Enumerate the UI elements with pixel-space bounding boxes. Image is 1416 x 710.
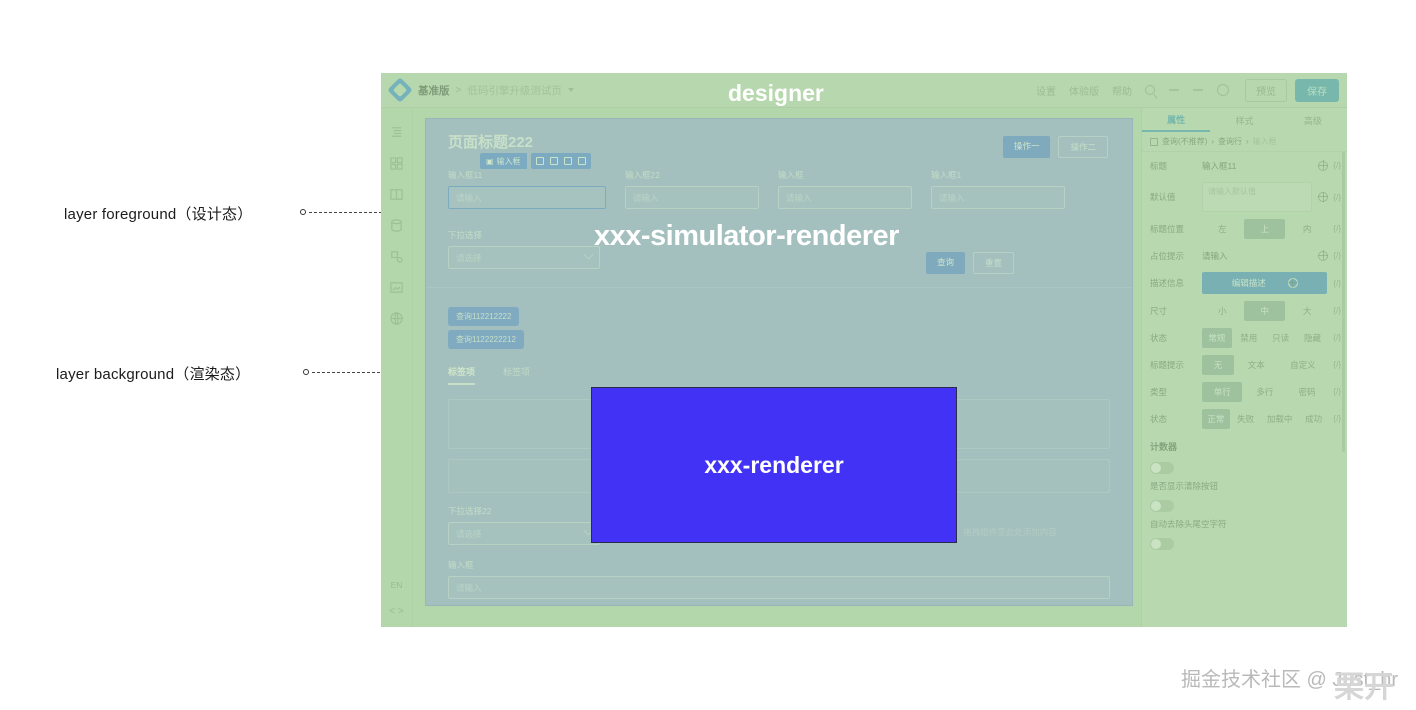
field-label: 输入框 <box>448 559 1110 571</box>
i18n-globe-icon[interactable] <box>1318 161 1328 171</box>
segment-option[interactable]: 加载中 <box>1261 409 1297 429</box>
trim-toggle[interactable] <box>1150 538 1174 550</box>
tag-item[interactable]: 查询1122222212 <box>448 330 524 349</box>
page-title: 页面标题222 <box>448 131 533 152</box>
chevron-down-icon <box>584 250 594 260</box>
segment-option[interactable]: 小 <box>1202 301 1242 321</box>
header-action-buttons: 操作一 操作二 <box>1003 136 1108 158</box>
status-segmented: 正常 失败 加载中 成功 <box>1202 409 1327 429</box>
property-control: 单行 多行 密码 <box>1202 382 1327 402</box>
property-row-end: {/} <box>1333 279 1341 288</box>
field-input-1[interactable]: 输入框1 请输入 <box>931 169 1065 209</box>
property-label: 状态 <box>1150 413 1196 425</box>
section-divider <box>426 287 1132 288</box>
i18n-globe-icon[interactable] <box>1288 278 1298 288</box>
title-tip-segmented: 无 文本 自定义 <box>1202 355 1327 375</box>
property-label: 标题提示 <box>1150 359 1196 371</box>
property-breadcrumb-item-0[interactable]: 查询(不推荐) <box>1162 136 1207 147</box>
lock-icon[interactable] <box>564 157 572 165</box>
breadcrumb-item-1[interactable]: 低码引擎升级测试页 <box>467 83 562 98</box>
topbar-menu: 设置 体验版 帮助 <box>1036 83 1155 98</box>
property-row-end: {/} <box>1333 360 1341 369</box>
property-section-clear-button: 是否显示清除按钮 <box>1142 477 1347 495</box>
diamond-logo-icon[interactable] <box>387 77 412 102</box>
size-segmented: 小 中 大 <box>1202 301 1327 321</box>
property-row-end: {/} <box>1318 251 1341 261</box>
segment-option-selected[interactable]: 单行 <box>1202 382 1242 402</box>
expression-icon[interactable]: {/} <box>1333 414 1341 423</box>
select-placeholder: 请选择 <box>456 528 482 540</box>
segment-option[interactable]: 成功 <box>1300 409 1328 429</box>
property-label: 尺寸 <box>1150 305 1196 317</box>
history-icon[interactable] <box>1217 84 1229 96</box>
search-form-footer-buttons: 查询 重置 <box>926 252 1014 274</box>
redo-icon[interactable] <box>1193 89 1203 91</box>
breadcrumb-separator-icon: › <box>1246 137 1249 146</box>
tab-styles[interactable]: 样式 <box>1210 108 1278 132</box>
query-button[interactable]: 查询 <box>926 252 965 274</box>
expression-icon[interactable]: {/} <box>1333 161 1341 170</box>
title-position-segmented: 左 上 内 <box>1202 219 1327 239</box>
copy-icon[interactable] <box>536 157 544 165</box>
outline-tree-icon[interactable] <box>389 125 404 140</box>
tag-list: 查询112212222 查询1122222212 <box>448 307 524 353</box>
property-section-counter: 计数器 <box>1142 432 1347 457</box>
input-placeholder: 请输入 <box>633 192 659 204</box>
annotation-layer-background: layer background（渲染态） <box>56 363 250 384</box>
reset-button[interactable]: 重置 <box>973 252 1014 274</box>
property-label: 标题位置 <box>1150 223 1196 235</box>
topbar-menu-settings[interactable]: 设置 <box>1036 83 1056 98</box>
property-label: 占位提示 <box>1150 250 1196 262</box>
property-tabs: 属性 样式 高级 <box>1142 108 1347 132</box>
topbar-button-group: 预览 保存 <box>1245 79 1339 102</box>
property-panel-scrollbar[interactable] <box>1342 152 1345 452</box>
tab-properties[interactable]: 属性 <box>1142 108 1210 132</box>
expression-icon[interactable]: {/} <box>1333 251 1341 260</box>
preview-button[interactable]: 预览 <box>1245 79 1287 102</box>
content-tabs: 标签项 标签项 <box>448 365 530 385</box>
segment-option[interactable]: 左 <box>1202 219 1242 239</box>
property-panel: 属性 样式 高级 查询(不推荐) › 查询行 › 输入框 标题 输入框11 <box>1141 108 1347 627</box>
property-label: 类型 <box>1150 386 1196 398</box>
input-placeholder: 请输入 <box>786 192 812 204</box>
segment-option[interactable]: 内 <box>1287 219 1327 239</box>
segment-option[interactable]: 多行 <box>1244 382 1284 402</box>
title-input[interactable]: 输入框11 <box>1202 158 1312 174</box>
property-breadcrumb-item-2[interactable]: 输入框 <box>1253 136 1277 147</box>
action-one-button[interactable]: 操作一 <box>1003 136 1051 158</box>
segment-option[interactable]: 密码 <box>1287 382 1327 402</box>
segment-option[interactable]: 大 <box>1287 301 1327 321</box>
move-icon[interactable] <box>550 157 558 165</box>
tag-item[interactable]: 查询112212222 <box>448 307 519 326</box>
globe-icon[interactable] <box>389 311 404 326</box>
select-dropdown-22[interactable]: 请选择 <box>448 522 600 545</box>
tab-item-0[interactable]: 标签项 <box>448 365 475 385</box>
annotation-layer-foreground: layer foreground（设计态） <box>64 203 252 224</box>
topbar-menu-experience[interactable]: 体验版 <box>1069 83 1099 98</box>
assets-image-icon[interactable] <box>389 280 404 295</box>
undo-icon[interactable] <box>1169 89 1179 91</box>
segment-option-selected[interactable]: 常规 <box>1202 328 1232 348</box>
property-row-title: 标题 输入框11 {/} <box>1142 152 1347 179</box>
expression-icon[interactable]: {/} <box>1333 387 1341 396</box>
expression-icon[interactable]: {/} <box>1333 193 1341 202</box>
property-control: 无 文本 自定义 <box>1202 355 1327 375</box>
property-row-default-value: 默认值 请输入默认值 {/} <box>1142 179 1347 215</box>
input-placeholder: 请输入 <box>456 192 482 204</box>
selection-tools <box>531 153 591 169</box>
segment-option[interactable]: 隐藏 <box>1298 328 1328 348</box>
selection-toolbar[interactable]: ▣ 输入框 <box>480 153 591 169</box>
property-control: 小 中 大 <box>1202 301 1327 321</box>
bottom-input[interactable]: 请输入 <box>448 576 1110 599</box>
layout-blocks-icon[interactable] <box>389 187 404 202</box>
property-row-title-position: 标题位置 左 上 内 {/} <box>1142 215 1347 242</box>
leader-dot-background <box>303 369 309 375</box>
tab-item-1[interactable]: 标签项 <box>503 365 530 385</box>
property-row-status: 状态 正常 失败 加载中 成功 {/} <box>1142 405 1347 432</box>
edit-icon: ▣ <box>486 157 494 166</box>
edit-description-label: 编辑描述 <box>1232 277 1266 289</box>
property-label: 状态 <box>1150 332 1196 344</box>
field-input-3[interactable]: 输入框 请输入 <box>778 169 912 209</box>
property-row-placeholder: 占位提示 请输入 {/} <box>1142 242 1347 269</box>
action-two-button[interactable]: 操作二 <box>1058 136 1108 158</box>
designer-overlay-title: designer <box>728 80 824 107</box>
simulator-renderer-label: xxx-simulator-renderer <box>594 220 899 253</box>
breadcrumb-item-0[interactable]: 基准版 <box>418 83 450 98</box>
field-input-bottom[interactable]: 输入框 请输入 <box>448 559 1110 599</box>
search-form-row-1: 输入框11 请输入 输入框22 请输入 <box>448 169 1065 209</box>
component-icon <box>1150 138 1158 146</box>
property-label: 描述信息 <box>1150 277 1196 289</box>
property-section-trim: 自动去除头尾空字符 <box>1142 515 1347 533</box>
designer-window: 基准版 > 低码引擎升级测试页 设置 体验版 帮助 预览 保存 <box>381 73 1347 627</box>
field-label: 下拉选择22 <box>448 505 600 517</box>
default-value-textarea[interactable]: 请输入默认值 <box>1202 182 1312 212</box>
property-control: 请输入 <box>1202 248 1312 264</box>
watermark-stamp: 栗开 <box>1334 662 1394 706</box>
property-row-end: {/} <box>1318 161 1341 171</box>
renderer-label: xxx-renderer <box>704 452 843 479</box>
search-input-1[interactable]: 请输入 <box>931 186 1065 209</box>
delete-icon[interactable] <box>578 157 586 165</box>
field-input-11[interactable]: 输入框11 请输入 <box>448 169 606 209</box>
expression-icon[interactable]: {/} <box>1333 306 1341 315</box>
datasource-icon[interactable] <box>389 218 404 233</box>
save-button[interactable]: 保存 <box>1295 79 1339 102</box>
field-label: 输入框22 <box>625 169 759 181</box>
property-row-end: {/} <box>1333 224 1341 233</box>
search-form-row-2: 下拉选择 请选择 <box>448 229 600 269</box>
property-row-state: 状态 常规 禁用 只读 隐藏 {/} <box>1142 324 1347 351</box>
leader-dot-foreground <box>300 209 306 215</box>
left-rail: EN < > <box>381 108 413 627</box>
input-placeholder: 请输入 <box>456 582 482 594</box>
select-placeholder: 请选择 <box>456 252 482 264</box>
field-label: 输入框11 <box>448 169 606 181</box>
property-row-end: {/} <box>1318 192 1341 202</box>
search-icon[interactable] <box>1145 85 1155 95</box>
property-row-end: {/} <box>1333 306 1341 315</box>
counter-toggle[interactable] <box>1150 462 1174 474</box>
property-control: 请输入默认值 <box>1202 182 1312 212</box>
field-select-22[interactable]: 下拉选择22 请选择 <box>448 505 600 545</box>
designer-body: EN < > 页面标题222 操作一 操作二 <box>381 108 1347 627</box>
type-segmented: 单行 多行 密码 <box>1202 382 1327 402</box>
state-segmented: 常规 禁用 只读 隐藏 <box>1202 328 1327 348</box>
i18n-globe-icon[interactable] <box>1318 192 1328 202</box>
designer-topbar: 基准版 > 低码引擎升级测试页 设置 体验版 帮助 预览 保存 <box>381 73 1347 108</box>
property-row-end: {/} <box>1333 387 1341 396</box>
segment-option[interactable]: 文本 <box>1236 355 1276 375</box>
chevron-down-icon[interactable] <box>568 88 574 92</box>
expression-icon[interactable]: {/} <box>1333 279 1341 288</box>
segment-option[interactable]: 只读 <box>1266 328 1296 348</box>
search-input-22[interactable]: 请输入 <box>625 186 759 209</box>
segment-option-selected[interactable]: 正常 <box>1202 409 1230 429</box>
selection-tag: ▣ 输入框 <box>480 153 527 169</box>
segment-option-selected[interactable]: 无 <box>1202 355 1234 375</box>
breadcrumb-separator-icon: > <box>456 85 462 96</box>
components-grid-icon[interactable] <box>389 156 404 171</box>
property-label: 标题 <box>1150 160 1196 172</box>
property-label: 默认值 <box>1150 191 1196 203</box>
topbar-menu-help[interactable]: 帮助 <box>1112 83 1132 98</box>
source-code-icon[interactable]: < > <box>389 606 403 617</box>
expression-icon[interactable]: {/} <box>1333 224 1341 233</box>
property-row-end: {/} <box>1333 414 1341 423</box>
property-row-size: 尺寸 小 中 大 {/} <box>1142 297 1347 324</box>
expression-icon[interactable]: {/} <box>1333 333 1341 342</box>
renderer-overlay-box: xxx-renderer <box>591 387 957 543</box>
property-control: 左 上 内 <box>1202 219 1327 239</box>
breadcrumb: 基准版 > 低码引擎升级测试页 <box>418 83 574 98</box>
segment-option-selected[interactable]: 上 <box>1244 219 1284 239</box>
field-label: 输入框1 <box>931 169 1065 181</box>
property-control: 正常 失败 加载中 成功 <box>1202 409 1327 429</box>
segment-option-selected[interactable]: 中 <box>1244 301 1284 321</box>
property-row-end: {/} <box>1333 333 1341 342</box>
search-input-11[interactable]: 请输入 <box>448 186 606 209</box>
breadcrumb-separator-icon: › <box>1211 137 1214 146</box>
edit-description-button[interactable]: 编辑描述 <box>1202 272 1327 294</box>
search-input-3[interactable]: 请输入 <box>778 186 912 209</box>
property-row-type: 类型 单行 多行 密码 {/} <box>1142 378 1347 405</box>
tab-advanced[interactable]: 高级 <box>1279 108 1347 132</box>
property-breadcrumb-item-1[interactable]: 查询行 <box>1218 136 1242 147</box>
property-control: 输入框11 <box>1202 158 1312 174</box>
topbar-icon-group <box>1169 84 1229 96</box>
clear-button-toggle[interactable] <box>1150 500 1174 512</box>
segment-option[interactable]: 自定义 <box>1278 355 1327 375</box>
segment-option[interactable]: 失败 <box>1232 409 1260 429</box>
property-breadcrumb: 查询(不推荐) › 查询行 › 输入框 <box>1142 132 1347 152</box>
input-placeholder: 请输入 <box>939 192 965 204</box>
segment-option[interactable]: 禁用 <box>1234 328 1264 348</box>
select-dropdown[interactable]: 请选择 <box>448 246 600 269</box>
field-select-dropdown[interactable]: 下拉选择 请选择 <box>448 229 600 269</box>
expression-icon[interactable]: {/} <box>1333 360 1341 369</box>
plugin-icon[interactable] <box>389 249 404 264</box>
placeholder-input[interactable]: 请输入 <box>1202 248 1312 264</box>
canvas-area: 页面标题222 操作一 操作二 ▣ 输入框 <box>413 108 1141 627</box>
property-control: 编辑描述 <box>1202 272 1327 294</box>
selection-tag-label: 输入框 <box>497 156 521 167</box>
property-control: 常规 禁用 只读 隐藏 <box>1202 328 1327 348</box>
locale-switch[interactable]: EN <box>389 580 403 590</box>
property-row-title-tip: 标题提示 无 文本 自定义 {/} <box>1142 351 1347 378</box>
field-label: 输入框 <box>778 169 912 181</box>
i18n-globe-icon[interactable] <box>1318 251 1328 261</box>
rail-bottom: EN < > <box>389 580 403 627</box>
screenshot-root: layer foreground（设计态） layer background（渲… <box>0 0 1416 710</box>
property-row-description: 描述信息 编辑描述 {/} <box>1142 269 1347 297</box>
field-input-22[interactable]: 输入框22 请输入 <box>625 169 759 209</box>
field-label: 下拉选择 <box>448 229 600 241</box>
